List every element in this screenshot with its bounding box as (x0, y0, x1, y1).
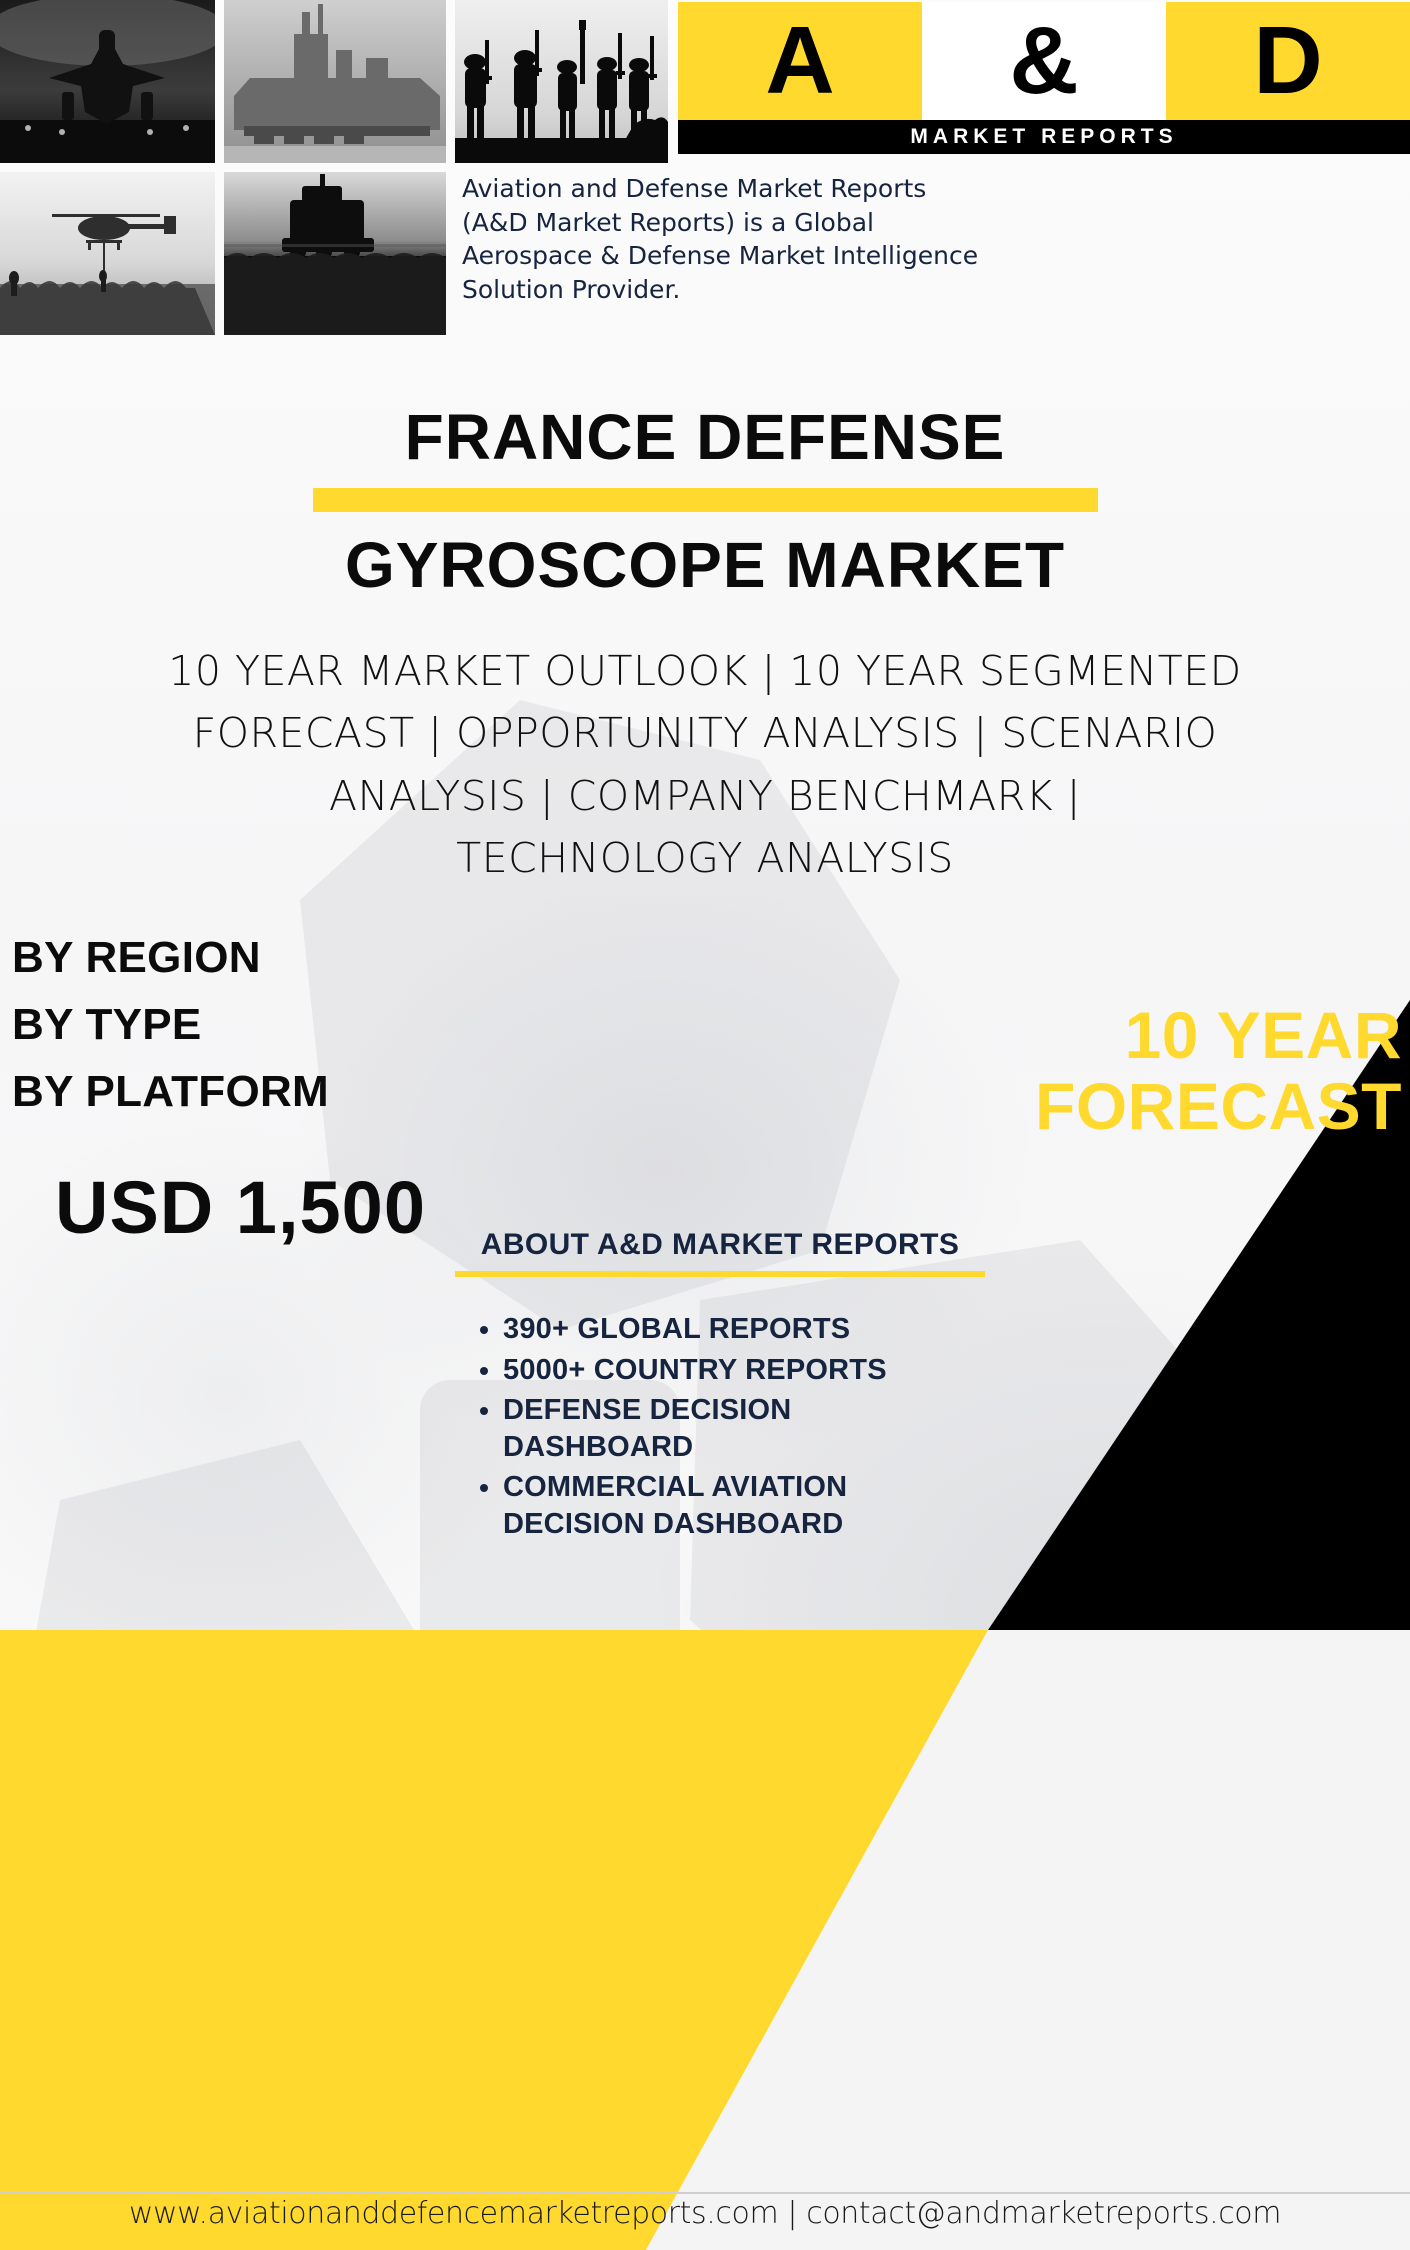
intro-line-2: (A&D Market Reports) is a Global (462, 206, 982, 240)
report-subtitle: 10 YEAR MARKET OUTLOOK | 10 YEAR SEGMENT… (35, 640, 1375, 889)
subtitle-line-4: TECHNOLOGY ANALYSIS (35, 827, 1375, 889)
segment-by-region: BY REGION (12, 925, 632, 992)
title-line-2: GYROSCOPE MARKET (0, 528, 1410, 602)
footer-contact[interactable]: www.aviationanddefencemarketreports.com … (0, 2196, 1410, 2231)
logo-letters-row: A & D (678, 2, 1410, 120)
forecast-badge: 10 YEAR FORECAST (702, 1000, 1402, 1143)
subtitle-line-1: 10 YEAR MARKET OUTLOOK | 10 YEAR SEGMENT… (35, 640, 1375, 702)
logo-letter-d: D (1166, 2, 1410, 120)
brand-logo: A & D MARKET REPORTS (678, 2, 1410, 154)
title-yellow-rule (313, 488, 1098, 512)
about-bullet-list: 390+ GLOBAL REPORTS 5000+ COUNTRY REPORT… (455, 1311, 985, 1542)
about-yellow-rule (455, 1271, 985, 1277)
segmentation-list: BY REGION BY TYPE BY PLATFORM (12, 925, 632, 1126)
segment-by-type: BY TYPE (12, 992, 632, 1059)
aircraft-carrier-photo (224, 0, 446, 163)
fighter-jet-photo (0, 0, 215, 163)
subtitle-line-3: ANALYSIS | COMPANY BENCHMARK | (35, 765, 1375, 827)
intro-line-1: Aviation and Defense Market Reports (462, 172, 982, 206)
footer-divider (0, 2192, 1410, 2194)
list-item: DEFENSE DECISION DASHBOARD (503, 1392, 985, 1465)
list-item: 5000+ COUNTRY REPORTS (503, 1352, 985, 1389)
forecast-line-1: 10 YEAR (702, 1000, 1402, 1071)
list-item: COMMERCIAL AVIATION DECISION DASHBOARD (503, 1469, 985, 1542)
forecast-line-2: FORECAST (702, 1071, 1402, 1142)
segment-by-platform: BY PLATFORM (12, 1059, 632, 1126)
intro-line-3: Aerospace & Defense Market Intelligence (462, 239, 982, 273)
about-heading: ABOUT A&D MARKET REPORTS (455, 1228, 985, 1262)
list-item: 390+ GLOBAL REPORTS (503, 1311, 985, 1348)
title-line-1: FRANCE DEFENSE (0, 400, 1410, 474)
report-title: FRANCE DEFENSE GYROSCOPE MARKET (0, 400, 1410, 602)
logo-tagline: MARKET REPORTS (910, 125, 1177, 149)
logo-tagline-bar: MARKET REPORTS (678, 120, 1410, 154)
intro-line-4: Solution Provider. (462, 273, 982, 307)
helicopter-photo (0, 172, 215, 335)
company-intro-paragraph: Aviation and Defense Market Reports (A&D… (462, 172, 982, 306)
subtitle-line-2: FORECAST | OPPORTUNITY ANALYSIS | SCENAR… (35, 702, 1375, 764)
poster-page: A & D MARKET REPORTS Aviation and Defens… (0, 0, 1410, 2250)
armored-vehicle-photo (224, 172, 446, 335)
logo-letter-a: A (678, 2, 922, 120)
about-section: ABOUT A&D MARKET REPORTS 390+ GLOBAL REP… (455, 1228, 985, 1546)
logo-letter-ampersand: & (922, 2, 1166, 120)
soldiers-silhouette-photo (455, 0, 668, 163)
